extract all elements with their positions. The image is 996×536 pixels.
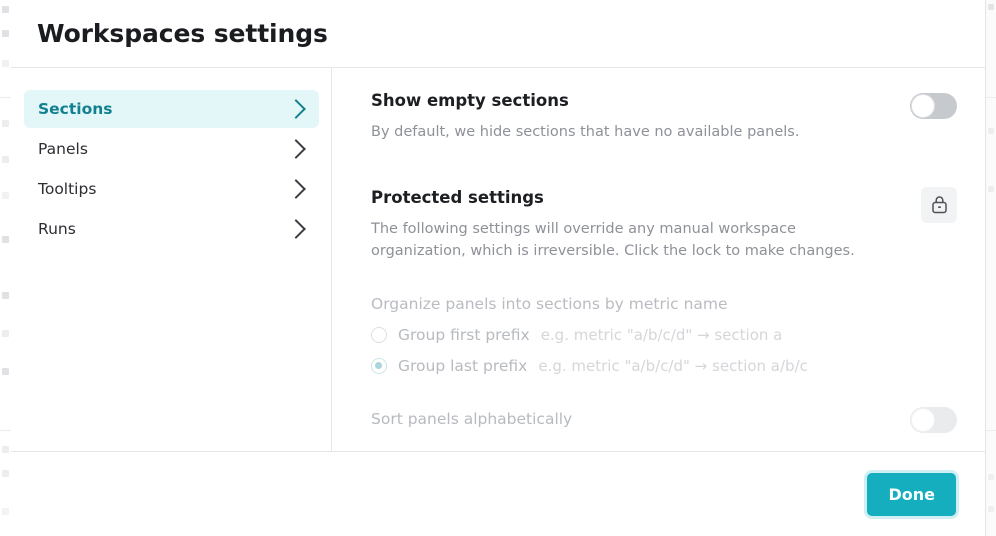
radio-hint: e.g. metric "a/b/c/d" → section a/b/c xyxy=(538,357,808,375)
radio-label: Group last prefix xyxy=(398,357,527,375)
sidebar-item-panels[interactable]: Panels xyxy=(24,130,319,168)
show-empty-sections-title: Show empty sections xyxy=(371,90,799,111)
backdrop-left-sliver xyxy=(0,0,11,536)
show-empty-sections-toggle[interactable] xyxy=(910,93,957,119)
page-scrollbar-area[interactable] xyxy=(985,0,996,536)
backdrop-artifact xyxy=(2,292,9,299)
sidebar-item-tooltips[interactable]: Tooltips xyxy=(24,170,319,208)
protected-settings-group: Organize panels into sections by metric … xyxy=(371,295,957,433)
backdrop-artifact xyxy=(2,60,9,67)
show-empty-sections-text: Show empty sections By default, we hide … xyxy=(371,90,799,144)
backdrop-artifact xyxy=(985,97,996,98)
backdrop-artifact xyxy=(2,30,9,37)
settings-sidebar: Sections Panels Tooltips Runs xyxy=(11,68,332,451)
backdrop-artifact xyxy=(0,97,11,98)
backdrop-artifact xyxy=(2,508,9,515)
chevron-right-icon xyxy=(286,179,306,199)
lock-closed-icon xyxy=(931,195,948,214)
toggle-knob xyxy=(911,94,935,118)
radio-button-unchecked-icon[interactable] xyxy=(371,327,387,343)
backdrop-artifact xyxy=(2,470,9,477)
page-title: Workspaces settings xyxy=(11,19,328,48)
show-empty-sections-description: By default, we hide sections that have n… xyxy=(371,122,799,143)
spacer xyxy=(371,144,957,187)
toggle-knob xyxy=(911,408,935,432)
backdrop-artifact xyxy=(2,236,9,243)
radio-label: Group first prefix xyxy=(398,326,530,344)
protected-settings-row: Protected settings The following setting… xyxy=(371,187,957,262)
modal-footer: Done xyxy=(11,452,985,536)
backdrop-artifact xyxy=(0,430,11,431)
workspaces-settings-modal: Workspaces settings Sections Panels Tool… xyxy=(11,0,985,536)
backdrop-artifact xyxy=(2,120,9,127)
sidebar-item-sections[interactable]: Sections xyxy=(24,90,319,128)
sidebar-item-label: Runs xyxy=(38,220,76,238)
sort-panels-row: Sort panels alphabetically xyxy=(371,404,957,433)
radio-button-checked-icon[interactable] xyxy=(371,358,387,374)
protected-settings-description: The following settings will override any… xyxy=(371,219,891,262)
radio-hint: e.g. metric "a/b/c/d" → section a xyxy=(541,326,783,344)
backdrop-artifact xyxy=(988,506,994,512)
backdrop-artifact xyxy=(988,4,994,10)
radio-group-first-prefix[interactable]: Group first prefix e.g. metric "a/b/c/d"… xyxy=(371,326,957,344)
protected-settings-title: Protected settings xyxy=(371,187,891,208)
backdrop-artifact xyxy=(2,192,9,199)
protected-settings-text: Protected settings The following setting… xyxy=(371,187,891,262)
done-button[interactable]: Done xyxy=(867,473,956,516)
show-empty-sections-row: Show empty sections By default, we hide … xyxy=(371,90,957,144)
lock-toggle-button[interactable] xyxy=(921,187,957,223)
modal-header: Workspaces settings xyxy=(11,0,985,68)
chevron-right-icon xyxy=(286,219,306,239)
sidebar-item-runs[interactable]: Runs xyxy=(24,210,319,248)
sidebar-item-label: Panels xyxy=(38,140,88,158)
backdrop-artifact xyxy=(2,6,9,13)
organize-panels-group-title: Organize panels into sections by metric … xyxy=(371,295,957,313)
backdrop-artifact xyxy=(988,128,994,134)
chevron-right-icon xyxy=(286,99,306,119)
chevron-right-icon xyxy=(286,139,306,159)
sort-panels-label: Sort panels alphabetically xyxy=(371,410,572,428)
backdrop-artifact xyxy=(2,330,9,337)
modal-body: Sections Panels Tooltips Runs Show em xyxy=(11,68,985,452)
radio-group-last-prefix[interactable]: Group last prefix e.g. metric "a/b/c/d" … xyxy=(371,357,957,375)
backdrop-artifact xyxy=(2,368,9,375)
sidebar-item-label: Tooltips xyxy=(38,180,96,198)
backdrop-artifact xyxy=(2,446,9,453)
backdrop-artifact xyxy=(988,186,994,192)
settings-content: Show empty sections By default, we hide … xyxy=(332,68,985,451)
backdrop-artifact xyxy=(985,430,996,431)
backdrop-artifact xyxy=(2,156,9,163)
backdrop-artifact xyxy=(988,474,994,480)
sort-panels-toggle[interactable] xyxy=(910,407,957,433)
sidebar-item-label: Sections xyxy=(38,100,113,118)
